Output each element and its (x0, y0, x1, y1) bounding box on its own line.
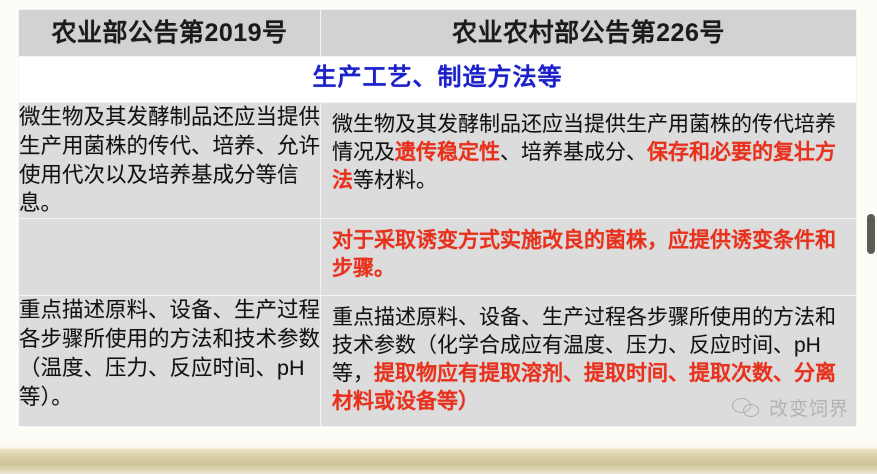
row-3-left-cell: 重点描述原料、设备、生产过程各步骤所使用的方法和技术参数（温度、压力、反应时间、… (19, 296, 321, 427)
body-text: 等材料。 (353, 169, 437, 192)
slide-canvas: 农业部公告第2019号 农业农村部公告第226号 生产工艺、制造方法等 微生物及… (0, 0, 877, 443)
row-2-left-cell (19, 219, 321, 296)
table-row: 微生物及其发酵制品还应当提供生产用菌株的传代、培养、允许使用代次以及培养基成分等… (19, 103, 857, 219)
row-3-right-cell: 重点描述原料、设备、生产过程各步骤所使用的方法和技术参数（化学合成应有温度、压力… (321, 296, 857, 427)
table-header-row: 农业部公告第2019号 农业农村部公告第226号 (19, 10, 857, 57)
comparison-table: 农业部公告第2019号 农业农村部公告第226号 生产工艺、制造方法等 微生物及… (18, 9, 857, 427)
row-2-right-cell: 对于采取诱变方式实施改良的菌株，应提供诱变条件和步骤。 (321, 219, 857, 296)
body-text: 、培养基成分、 (500, 141, 647, 164)
highlighted-text: 提取物应有提取溶剂、提取时间、提取次数、分离材料或设备等） (332, 362, 836, 413)
header-cell-right: 农业农村部公告第226号 (321, 10, 857, 57)
header-cell-left: 农业部公告第2019号 (19, 10, 321, 57)
body-text: 重点描述原料、设备、生产过程各步骤所使用的方法和技术参数（温度、压力、反应时间、… (19, 298, 320, 408)
row-1-right-cell: 微生物及其发酵制品还应当提供生产用菌株的传代培养情况及遗传稳定性、培养基成分、保… (321, 103, 857, 219)
section-title-cell: 生产工艺、制造方法等 (19, 57, 857, 103)
body-text: 微生物及其发酵制品还应当提供生产用菌株的传代、培养、允许使用代次以及培养基成分等… (19, 105, 320, 215)
section-title-text: 生产工艺、制造方法等 (313, 64, 563, 91)
scrollbar-thumb[interactable] (867, 214, 875, 254)
highlighted-text: 遗传稳定性 (395, 141, 500, 164)
highlighted-text: 对于采取诱变方式实施改良的菌株，应提供诱变条件和步骤。 (332, 229, 836, 280)
row-1-left-cell: 微生物及其发酵制品还应当提供生产用菌株的传代、培养、允许使用代次以及培养基成分等… (19, 103, 321, 219)
table-row: 对于采取诱变方式实施改良的菌株，应提供诱变条件和步骤。 (19, 219, 857, 296)
vertical-scrollbar[interactable] (865, 0, 877, 443)
table-row: 重点描述原料、设备、生产过程各步骤所使用的方法和技术参数（温度、压力、反应时间、… (19, 296, 857, 427)
section-title-row: 生产工艺、制造方法等 (19, 57, 857, 103)
